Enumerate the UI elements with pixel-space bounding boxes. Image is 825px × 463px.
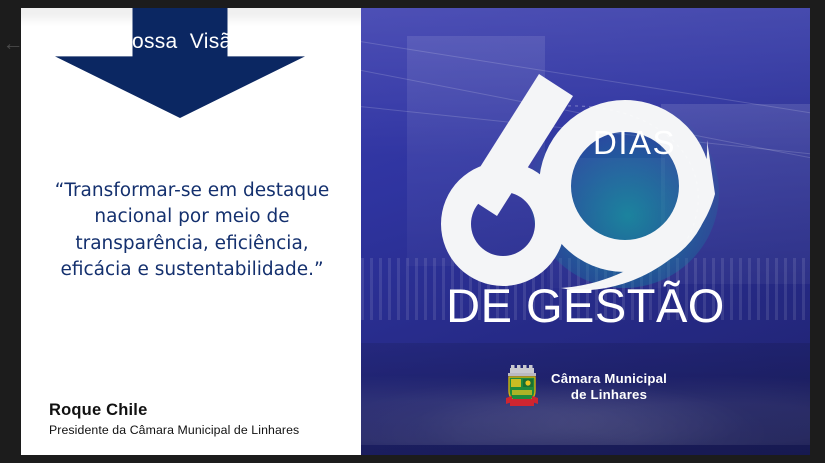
- vision-banner-label: Nossa Visão: [55, 8, 305, 76]
- vision-quote-text: “Transformar-se em destaque nacional por…: [49, 178, 335, 283]
- camara-logo-line1: Câmara Municipal: [551, 371, 667, 388]
- coat-of-arms-icon: [504, 365, 540, 409]
- left-panel: Nossa Visão “Transformar-se em destaque …: [21, 8, 361, 455]
- camara-logo-lockup: Câmara Municipal de Linhares: [361, 365, 810, 409]
- signature-role: Presidente da Câmara Municipal de Linhar…: [49, 423, 349, 437]
- camara-logo-text: Câmara Municipal de Linhares: [551, 371, 667, 404]
- slide-viewer: ← Nossa Visão “Transformar-se em destaqu…: [0, 0, 825, 463]
- right-panel: DIAS DE GESTÃO: [361, 8, 810, 455]
- sixty-logo-mark: [411, 66, 751, 306]
- headline-de-gestao: DE GESTÃO: [361, 282, 810, 329]
- signature-name: Roque Chile: [49, 401, 349, 420]
- signature-block: Roque Chile Presidente da Câmara Municip…: [49, 401, 349, 437]
- dias-label: DIAS: [593, 126, 713, 159]
- camara-logo-line2: de Linhares: [551, 387, 667, 404]
- slide-canvas: Nossa Visão “Transformar-se em destaque …: [21, 8, 810, 455]
